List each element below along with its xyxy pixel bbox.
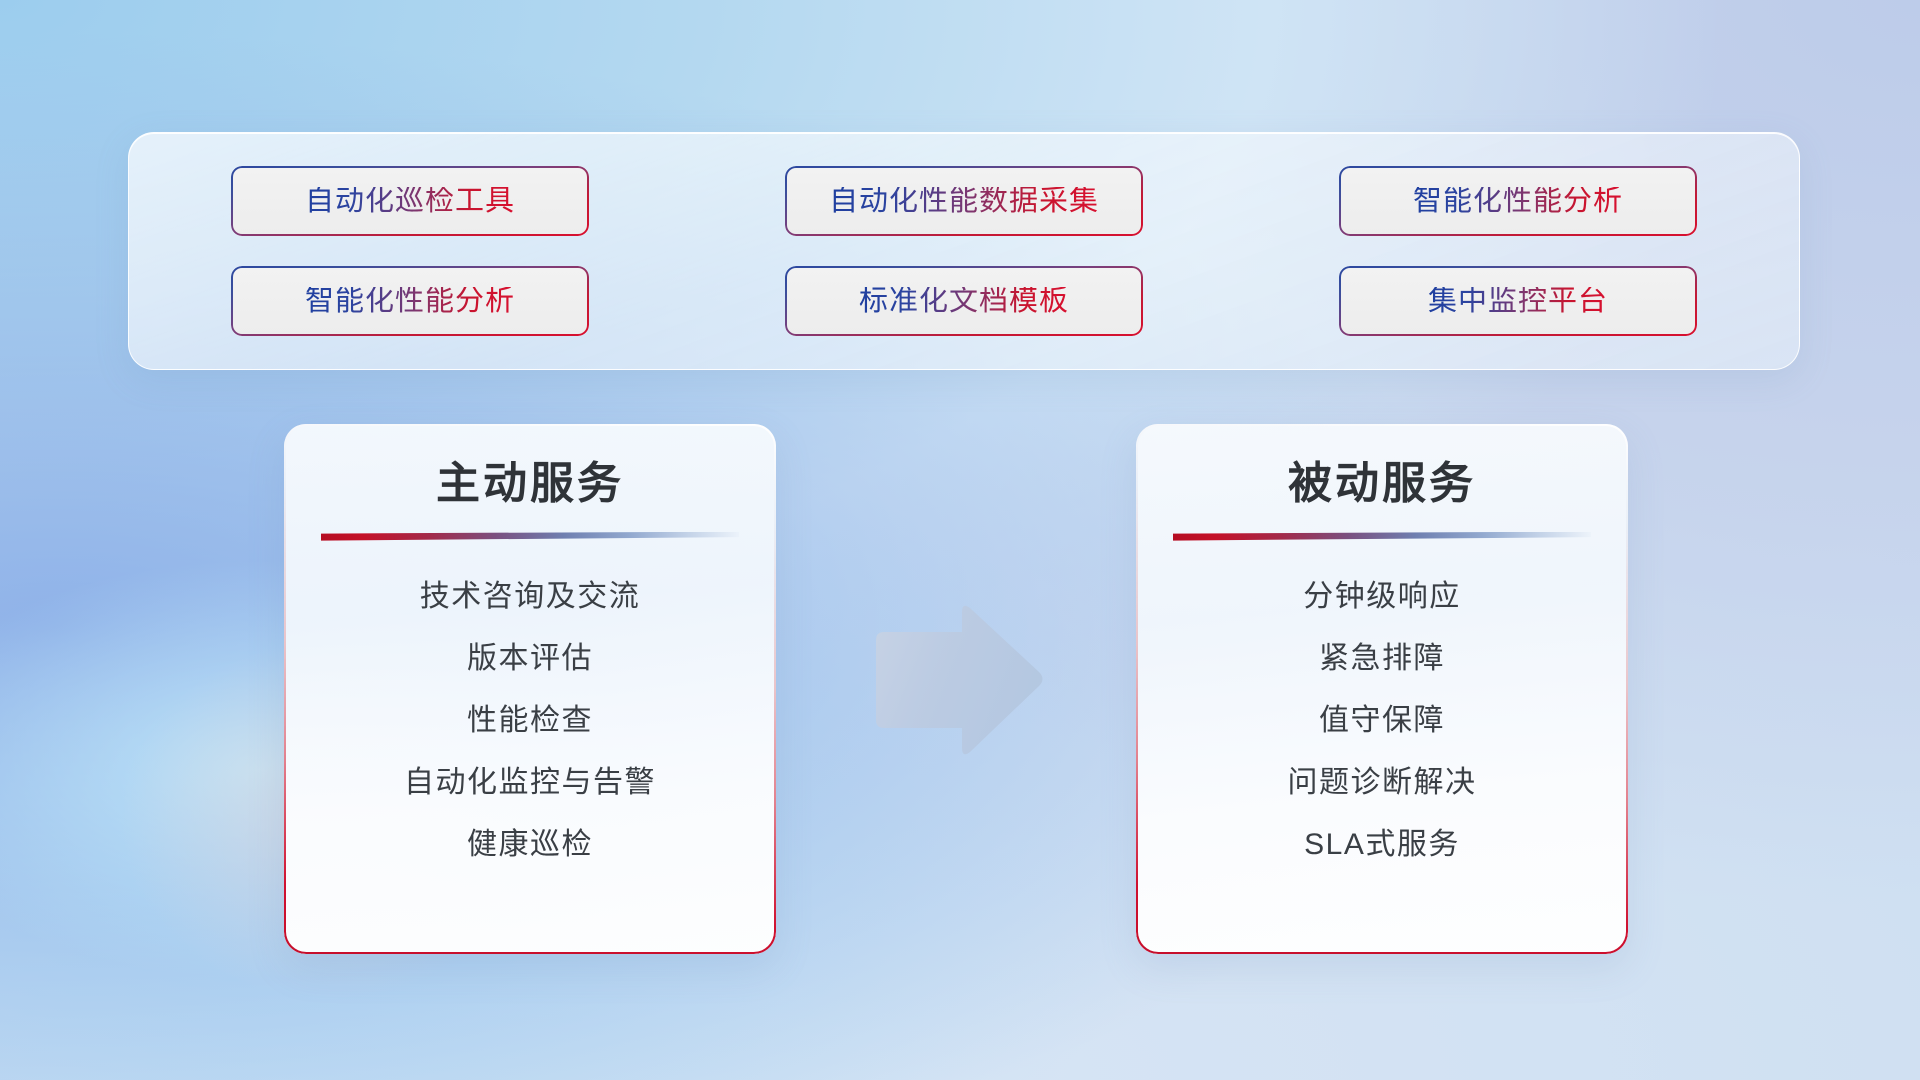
capability-pill-6[interactable]: 集中监控平台: [1339, 266, 1697, 336]
service-list-item: 版本评估: [467, 641, 593, 677]
capability-pill-label: 标准化文档模板: [859, 287, 1069, 316]
divider-bar: [321, 532, 739, 541]
capability-pill-grid: 自动化巡检工具 自动化性能数据采集 智能化性能分析 智能化性能分析 标准化文档模…: [231, 166, 1697, 336]
capability-panel: 自动化巡检工具 自动化性能数据采集 智能化性能分析 智能化性能分析 标准化文档模…: [128, 132, 1800, 370]
service-card-body: 主动服务 技术咨询及交流 版本评估 性能检查 自动化监控与告警 健康巡检: [284, 424, 776, 954]
capability-pill-5[interactable]: 标准化文档模板: [785, 266, 1143, 336]
service-list-item: 值守保障: [1319, 703, 1445, 739]
service-card-title: 主动服务: [436, 459, 624, 510]
title-divider: [1173, 532, 1591, 541]
service-card-body: 被动服务 分钟级响应 紧急排障 值守保障 问题诊断解决 SLA式服务: [1136, 424, 1628, 954]
service-list-item: 分钟级响应: [1303, 579, 1461, 615]
service-list-item: 性能检查: [467, 703, 593, 739]
capability-pill-1[interactable]: 自动化巡检工具: [231, 166, 589, 236]
capability-pill-label: 自动化性能数据采集: [829, 187, 1099, 216]
service-list-item: SLA式服务: [1304, 827, 1460, 863]
service-item-list: 分钟级响应 紧急排障 值守保障 问题诊断解决 SLA式服务: [1136, 579, 1628, 863]
service-card-title: 被动服务: [1288, 459, 1476, 510]
capability-pill-2[interactable]: 自动化性能数据采集: [785, 166, 1143, 236]
service-list-item: 技术咨询及交流: [420, 579, 641, 615]
service-list-item: 紧急排障: [1319, 641, 1445, 677]
capability-pill-label: 自动化巡检工具: [305, 187, 515, 216]
slide-canvas: 自动化巡检工具 自动化性能数据采集 智能化性能分析 智能化性能分析 标准化文档模…: [0, 0, 1920, 1080]
service-card-passive: 被动服务 分钟级响应 紧急排障 值守保障 问题诊断解决 SLA式服务: [1136, 424, 1628, 954]
capability-pill-label: 智能化性能分析: [305, 287, 515, 316]
capability-pill-3[interactable]: 智能化性能分析: [1339, 166, 1697, 236]
service-list-item: 问题诊断解决: [1288, 765, 1477, 801]
arrow-right-icon: [870, 600, 1045, 765]
service-card-active: 主动服务 技术咨询及交流 版本评估 性能检查 自动化监控与告警 健康巡检: [284, 424, 776, 954]
service-item-list: 技术咨询及交流 版本评估 性能检查 自动化监控与告警 健康巡检: [284, 579, 776, 863]
service-list-item: 自动化监控与告警: [404, 765, 656, 801]
capability-pill-4[interactable]: 智能化性能分析: [231, 266, 589, 336]
capability-pill-label: 集中监控平台: [1428, 287, 1608, 316]
divider-bar: [1173, 532, 1591, 541]
service-list-item: 健康巡检: [467, 827, 593, 863]
title-divider: [321, 532, 739, 541]
capability-pill-label: 智能化性能分析: [1413, 187, 1623, 216]
